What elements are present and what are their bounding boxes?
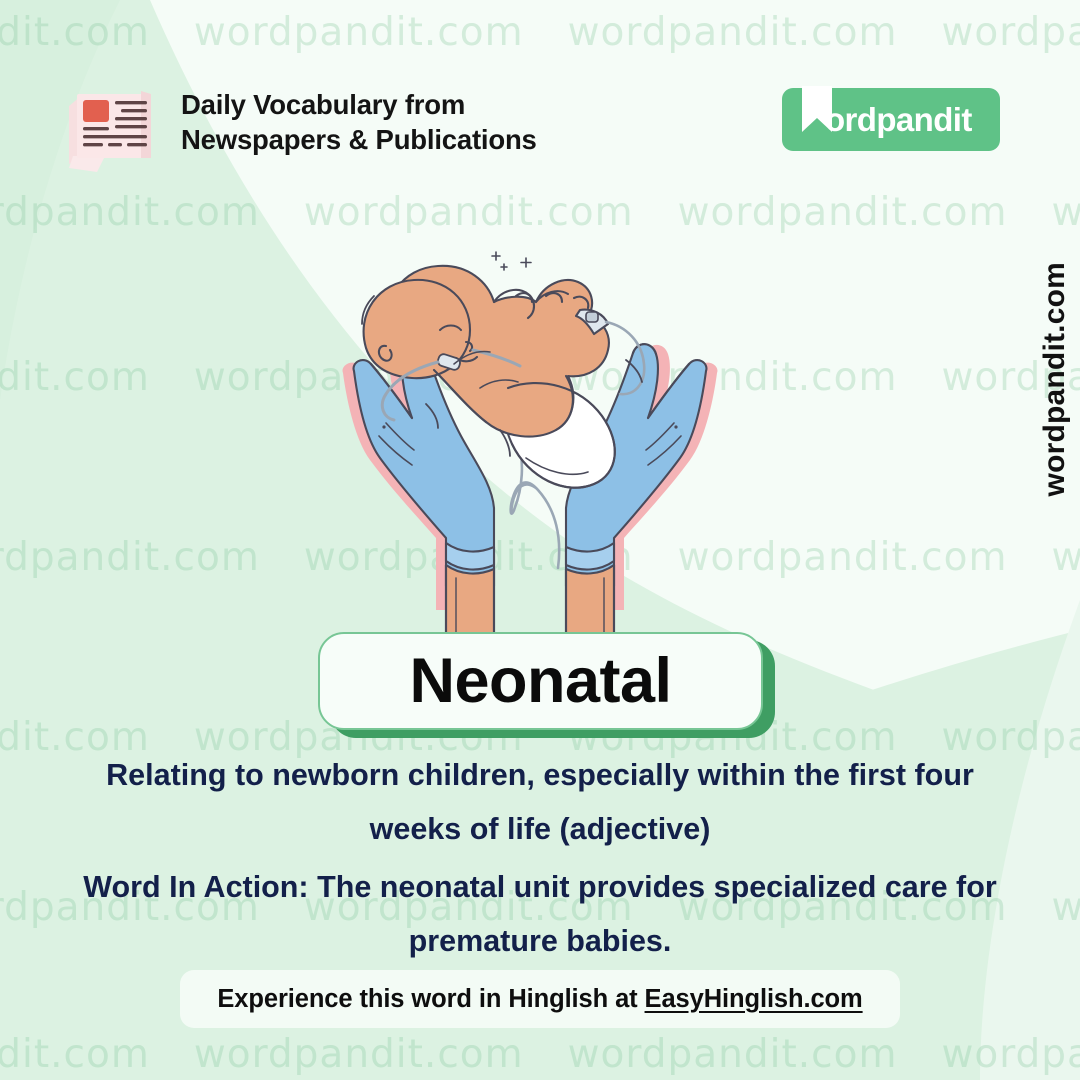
footer-prefix: Experience this word in Hinglish at	[217, 985, 644, 1013]
word-in-action: Word In Action: The neonatal unit provid…	[0, 860, 1080, 969]
vocabulary-word: Neonatal	[409, 645, 671, 717]
vocabulary-card: wordpandit.comwordpandit.comwordpandit.c…	[0, 0, 1080, 1080]
brand-name: ordpandit	[825, 101, 972, 139]
word-in-action-line-2: premature babies.	[0, 914, 1080, 968]
newspaper-icon	[55, 72, 167, 172]
definition: Relating to newborn children, especially…	[0, 748, 1080, 857]
vertical-site-url: wordpandit.com	[1038, 262, 1072, 496]
footer-text: Experience this word in Hinglish at Easy…	[217, 985, 862, 1014]
bookmark-w-icon	[800, 84, 834, 140]
newborn-baby-in-gloved-hands-illustration	[330, 238, 730, 638]
word-in-action-line-1: Word In Action: The neonatal unit provid…	[0, 860, 1080, 914]
footer-banner[interactable]: Experience this word in Hinglish at Easy…	[180, 970, 900, 1028]
definition-line-1: Relating to newborn children, especially…	[8, 748, 1072, 802]
word-box: Neonatal	[318, 632, 763, 730]
definition-line-2: weeks of life (adjective)	[8, 802, 1072, 856]
wordpandit-logo[interactable]: ordpandit	[782, 88, 1000, 151]
page-title: Daily Vocabulary from Newspapers & Publi…	[181, 87, 537, 157]
easyhinglish-link[interactable]: EasyHinglish.com	[645, 985, 863, 1013]
header: Daily Vocabulary from Newspapers & Publi…	[55, 72, 537, 172]
